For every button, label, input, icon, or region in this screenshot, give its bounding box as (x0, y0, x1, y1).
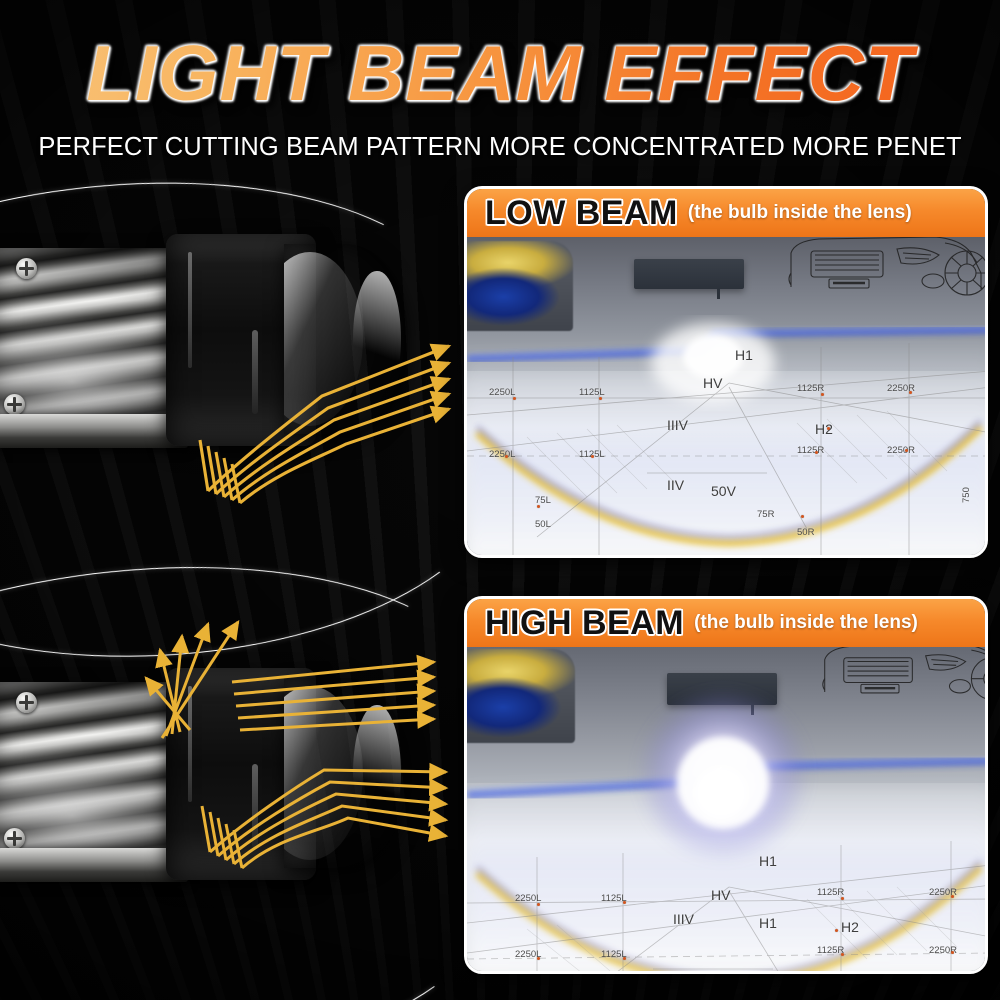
page-title: LIGHT BEAM EFFECT (0, 34, 1000, 112)
low-beam-panel[interactable]: LOW BEAM (the bulb inside the lens) (464, 186, 988, 558)
grid-label: HV (711, 887, 730, 903)
grid-label: H1 (759, 853, 777, 869)
grid-reference-dot (599, 397, 602, 400)
grid-label: 50R (797, 527, 814, 538)
light-ray-arrows (0, 196, 464, 576)
high-beam-panel-header: HIGH BEAM (the bulb inside the lens) (467, 599, 985, 647)
low-beam-grid-labels: 2250L1125LHVH11125R2250RIIIVH22250L1125L… (467, 237, 985, 555)
high-beam-grid-labels: H1HV2250L1125L1125R2250RIIIVH1H22250L112… (467, 647, 985, 971)
grid-label: IIIV (673, 911, 694, 927)
light-ray-arrows (0, 600, 464, 992)
grid-reference-dot (513, 397, 516, 400)
grid-reference-dot (835, 929, 838, 932)
poster-canvas: LIGHT BEAM EFFECT PERFECT CUTTING BEAM P… (0, 0, 1000, 1000)
grid-reference-dot (821, 393, 824, 396)
grid-label: 750 (961, 487, 972, 503)
grid-label: 1125R (797, 383, 824, 394)
grid-reference-dot (801, 515, 804, 518)
grid-label: HV (703, 375, 722, 391)
page-subtitle: PERFECT CUTTING BEAM PATTERN MORE CONCEN… (0, 133, 1000, 162)
low-beam-test-wall: 2250L1125LHVH11125R2250RIIIVH22250L1125L… (467, 237, 985, 555)
grid-label: H2 (841, 919, 859, 935)
grid-label: 1125R (797, 445, 824, 456)
grid-label: 2250L (489, 387, 515, 398)
grid-label: IIV (667, 477, 684, 493)
grid-label: 1125R (817, 887, 844, 898)
low-beam-panel-header: LOW BEAM (the bulb inside the lens) (467, 189, 985, 237)
grid-reference-dot (537, 903, 540, 906)
high-beam-note: (the bulb inside the lens) (694, 612, 918, 634)
high-beam-diagram (0, 600, 464, 972)
grid-label: IIIV (667, 417, 688, 433)
low-beam-note: (the bulb inside the lens) (688, 202, 912, 224)
grid-label: 2250L (489, 449, 515, 460)
grid-label: 50V (711, 483, 736, 499)
grid-label: 75R (757, 509, 774, 520)
grid-label: H1 (735, 347, 753, 363)
grid-reference-dot (537, 505, 540, 508)
grid-label: 2250R (887, 445, 915, 456)
low-beam-diagram (0, 196, 464, 556)
low-beam-title: LOW BEAM (485, 196, 678, 230)
high-beam-panel[interactable]: HIGH BEAM (the bulb inside the lens) (464, 596, 988, 974)
grid-label: 50L (535, 519, 551, 530)
grid-reference-dot (841, 897, 844, 900)
high-beam-test-wall: H1HV2250L1125L1125R2250RIIIVH1H22250L112… (467, 647, 985, 971)
high-beam-title: HIGH BEAM (485, 606, 684, 640)
header: LIGHT BEAM EFFECT PERFECT CUTTING BEAM P… (0, 0, 1000, 176)
grid-label: H1 (759, 915, 777, 931)
grid-label: H2 (815, 421, 833, 437)
